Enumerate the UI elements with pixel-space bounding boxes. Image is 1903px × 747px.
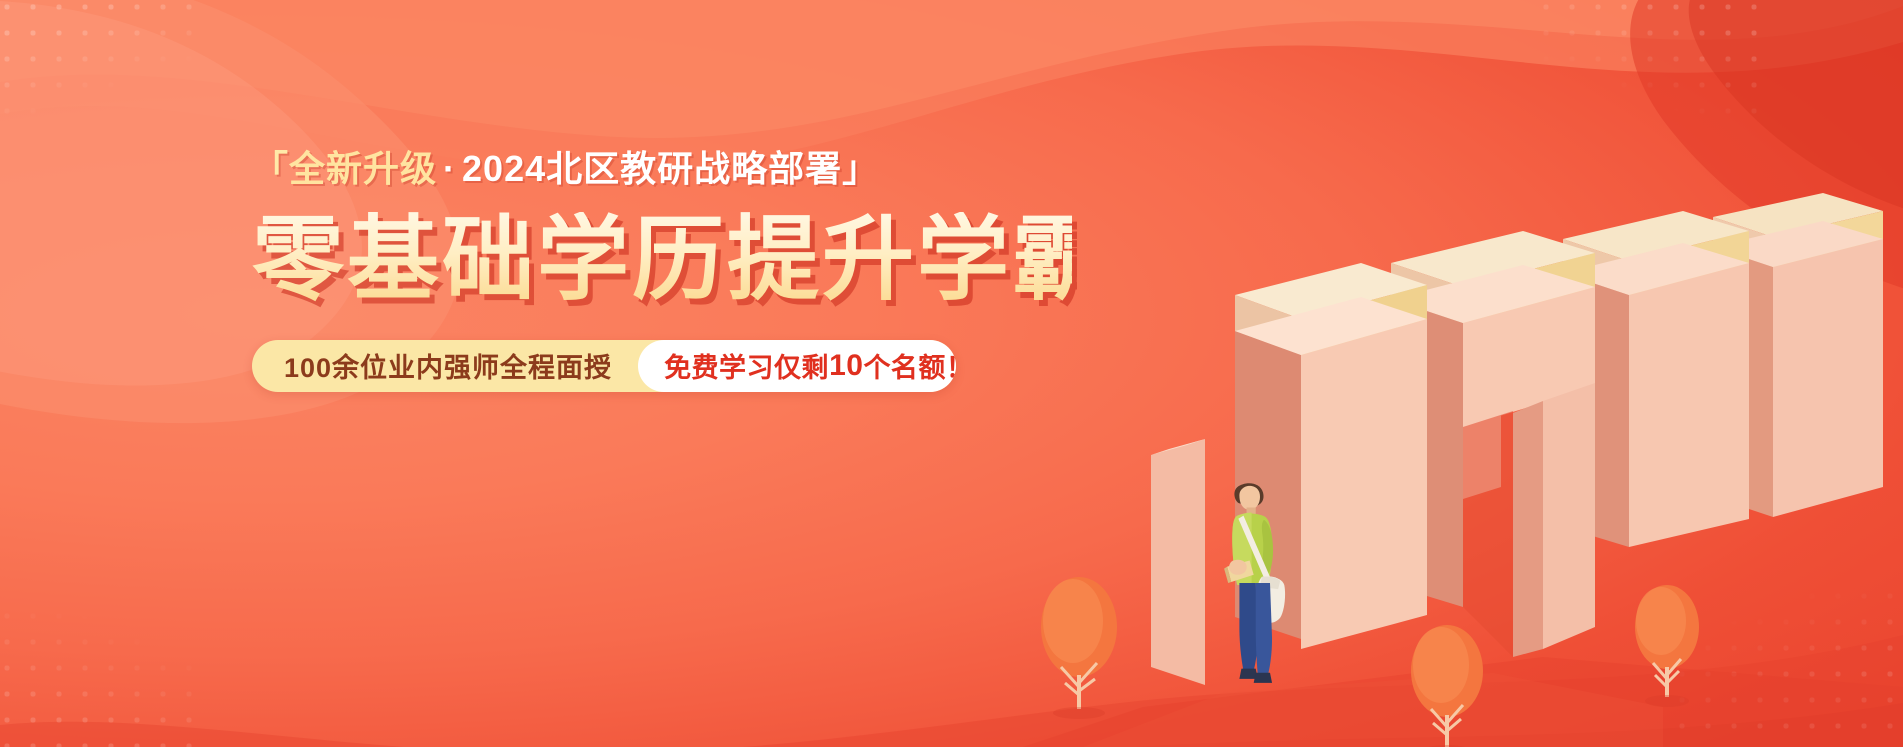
eyebrow-highlight: 全新升级 bbox=[289, 148, 437, 189]
banner-eyebrow: 「全新升级·2024北区教研战略部署」 bbox=[252, 148, 1072, 190]
pill-right-cta[interactable]: 免费学习仅剩10个名额！ bbox=[638, 340, 956, 392]
eyebrow-white-text: 2024北区教研战略部署 bbox=[462, 148, 842, 189]
banner-headline: 零基础学历提升学霸班 bbox=[252, 212, 1072, 310]
eyebrow-open-bracket: 「 bbox=[252, 148, 289, 189]
pill-right-suffix: 个名额！ bbox=[863, 346, 956, 385]
pill-right-prefix: 免费学习仅剩 bbox=[664, 346, 829, 385]
pill-right-number: 10 bbox=[829, 349, 863, 383]
promo-banner: 「全新升级·2024北区教研战略部署」 零基础学历提升学霸班 100余位业内强师… bbox=[0, 0, 1903, 747]
pill-left-label: 100余位业内强师全程面授 bbox=[252, 340, 638, 392]
background-bottom-sweep bbox=[0, 467, 1903, 747]
eyebrow-separator-dot: · bbox=[437, 148, 462, 189]
background-right-blob bbox=[1323, 0, 1903, 300]
banner-pill-row[interactable]: 100余位业内强师全程面授 免费学习仅剩10个名额！ bbox=[252, 340, 956, 392]
eyebrow-close-bracket: 」 bbox=[842, 148, 879, 189]
banner-copy-block: 「全新升级·2024北区教研战略部署」 零基础学历提升学霸班 100余位业内强师… bbox=[252, 148, 1072, 392]
